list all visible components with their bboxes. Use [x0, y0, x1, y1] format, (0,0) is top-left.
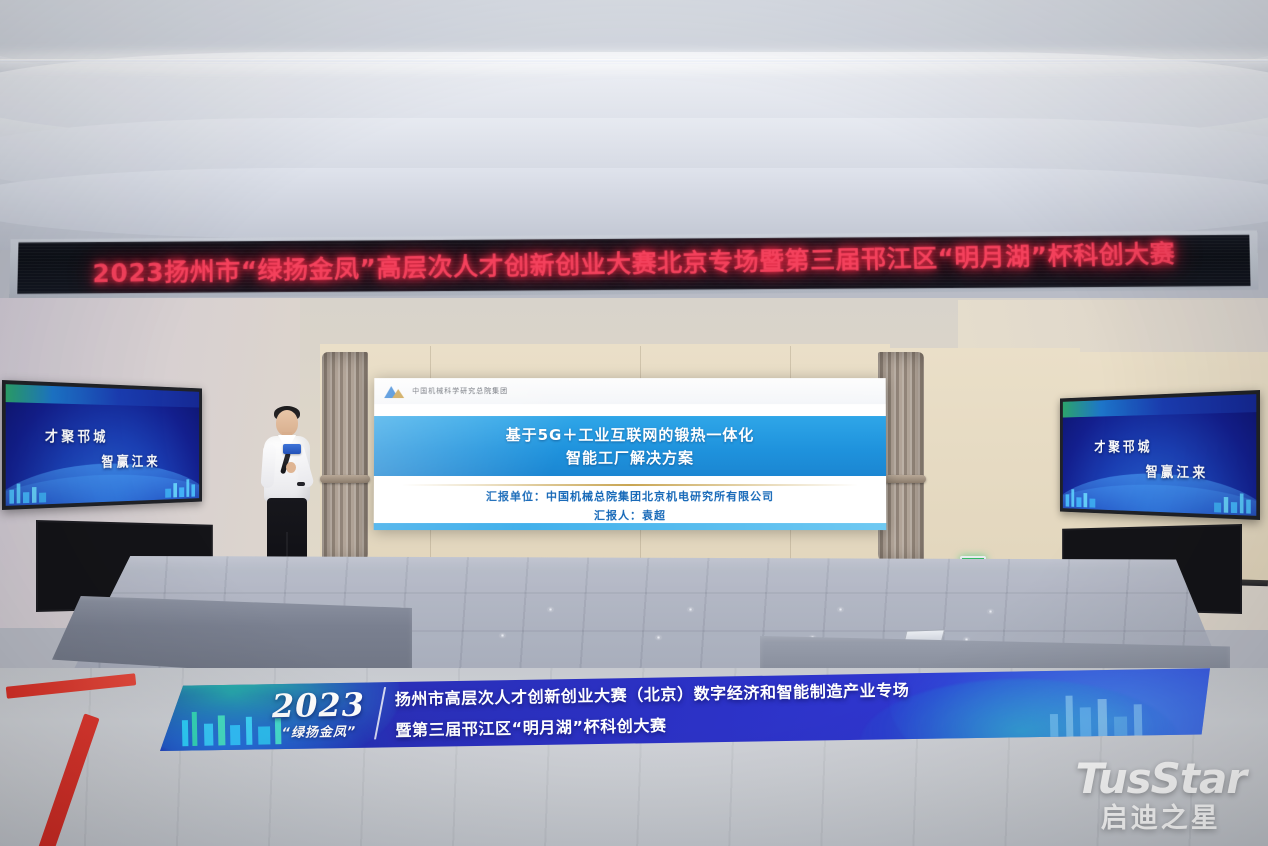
curtain-left: [322, 352, 368, 564]
right-display: 才聚邗城 智赢江来: [1060, 390, 1260, 520]
ceiling-light-strip: [0, 62, 1268, 64]
right-display-screen: 才聚邗城 智赢江来: [1063, 394, 1256, 516]
mountain-logo-icon: [384, 385, 406, 398]
city-skyline-icon: [1066, 487, 1098, 507]
conference-stage-photo: 2023扬州市“绿扬金凤”高层次人才创新创业大赛北京专场暨第三届邗江区“明月湖”…: [0, 0, 1268, 846]
banner-right-block: 扬州市高层次人才创新创业大赛（北京）数字经济和智能制造产业专场 暨第三届邗江区“…: [395, 676, 911, 740]
slide-presenter: 汇报人：袁超: [594, 507, 666, 523]
display-line-1: 才聚邗城: [6, 425, 172, 446]
floor-stud: [656, 636, 661, 639]
left-display-screen: 才聚邗城 智赢江来: [6, 384, 199, 506]
slide-title-block: 基于5G＋工业互联网的锻热一体化 智能工厂解决方案: [374, 416, 886, 476]
slide-reporting-unit: 汇报单位：中国机械总院集团北京机电研究所有限公司: [486, 488, 774, 504]
slide-subtitle-block: 汇报单位：中国机械总院集团北京机电研究所有限公司 汇报人：袁超: [374, 488, 887, 523]
left-display: 才聚邗城 智赢江来: [2, 380, 202, 510]
city-skyline-icon: [1212, 491, 1251, 514]
city-skyline-icon: [9, 481, 48, 504]
city-skyline-icon: [163, 477, 195, 497]
banner-divider: [374, 687, 386, 739]
display-topbar: [1063, 394, 1256, 418]
slide-title-line-2: 智能工厂解决方案: [566, 447, 694, 468]
display-line-2: 智赢江来: [32, 451, 199, 472]
speaker-watch: [297, 482, 305, 486]
banner-year: 2023: [272, 689, 366, 723]
banner-motto: “绿扬金凤”: [281, 726, 356, 740]
banner-left-block: 2023 “绿扬金凤”: [272, 689, 366, 741]
display-line-1: 才聚邗城: [1063, 436, 1222, 456]
slide-divider: [402, 484, 858, 486]
microphone-flag: [283, 444, 301, 454]
floor-stud: [964, 638, 969, 641]
led-banner-text: 2023扬州市“绿扬金凤”高层次人才创新创业大赛北京专场暨第三届邗江区“明月湖”…: [18, 233, 1251, 292]
presentation-slide: 中国机械科学研究总院集团 基于5G＋工业互联网的锻热一体化 智能工厂解决方案 汇…: [374, 378, 887, 530]
slide-title-line-1: 基于5G＋工业互联网的锻热一体化: [506, 424, 755, 445]
floor-stud: [688, 608, 693, 611]
banner-line-1: 扬州市高层次人才创新创业大赛（北京）数字经济和智能制造产业专场: [395, 676, 910, 709]
floor-stud: [500, 634, 505, 637]
display-topbar: [6, 384, 199, 408]
ceiling: [0, 0, 1268, 250]
floor-stud: [838, 608, 843, 611]
floor-stud: [548, 608, 553, 611]
banner-line-2: 暨第三届邗江区“明月湖”杯科创大赛: [395, 707, 910, 740]
led-banner: 2023扬州市“绿扬金凤”高层次人才创新创业大赛北京专场暨第三届邗江区“明月湖”…: [9, 226, 1259, 300]
speaker-hand: [286, 462, 296, 473]
slide-org-name: 中国机械科学研究总院集团: [412, 386, 508, 396]
slide-footer-bar: [374, 523, 887, 530]
slide-header: 中国机械科学研究总院集团: [374, 378, 886, 404]
display-line-2: 智赢江来: [1083, 461, 1256, 483]
floor-stud: [988, 610, 993, 613]
